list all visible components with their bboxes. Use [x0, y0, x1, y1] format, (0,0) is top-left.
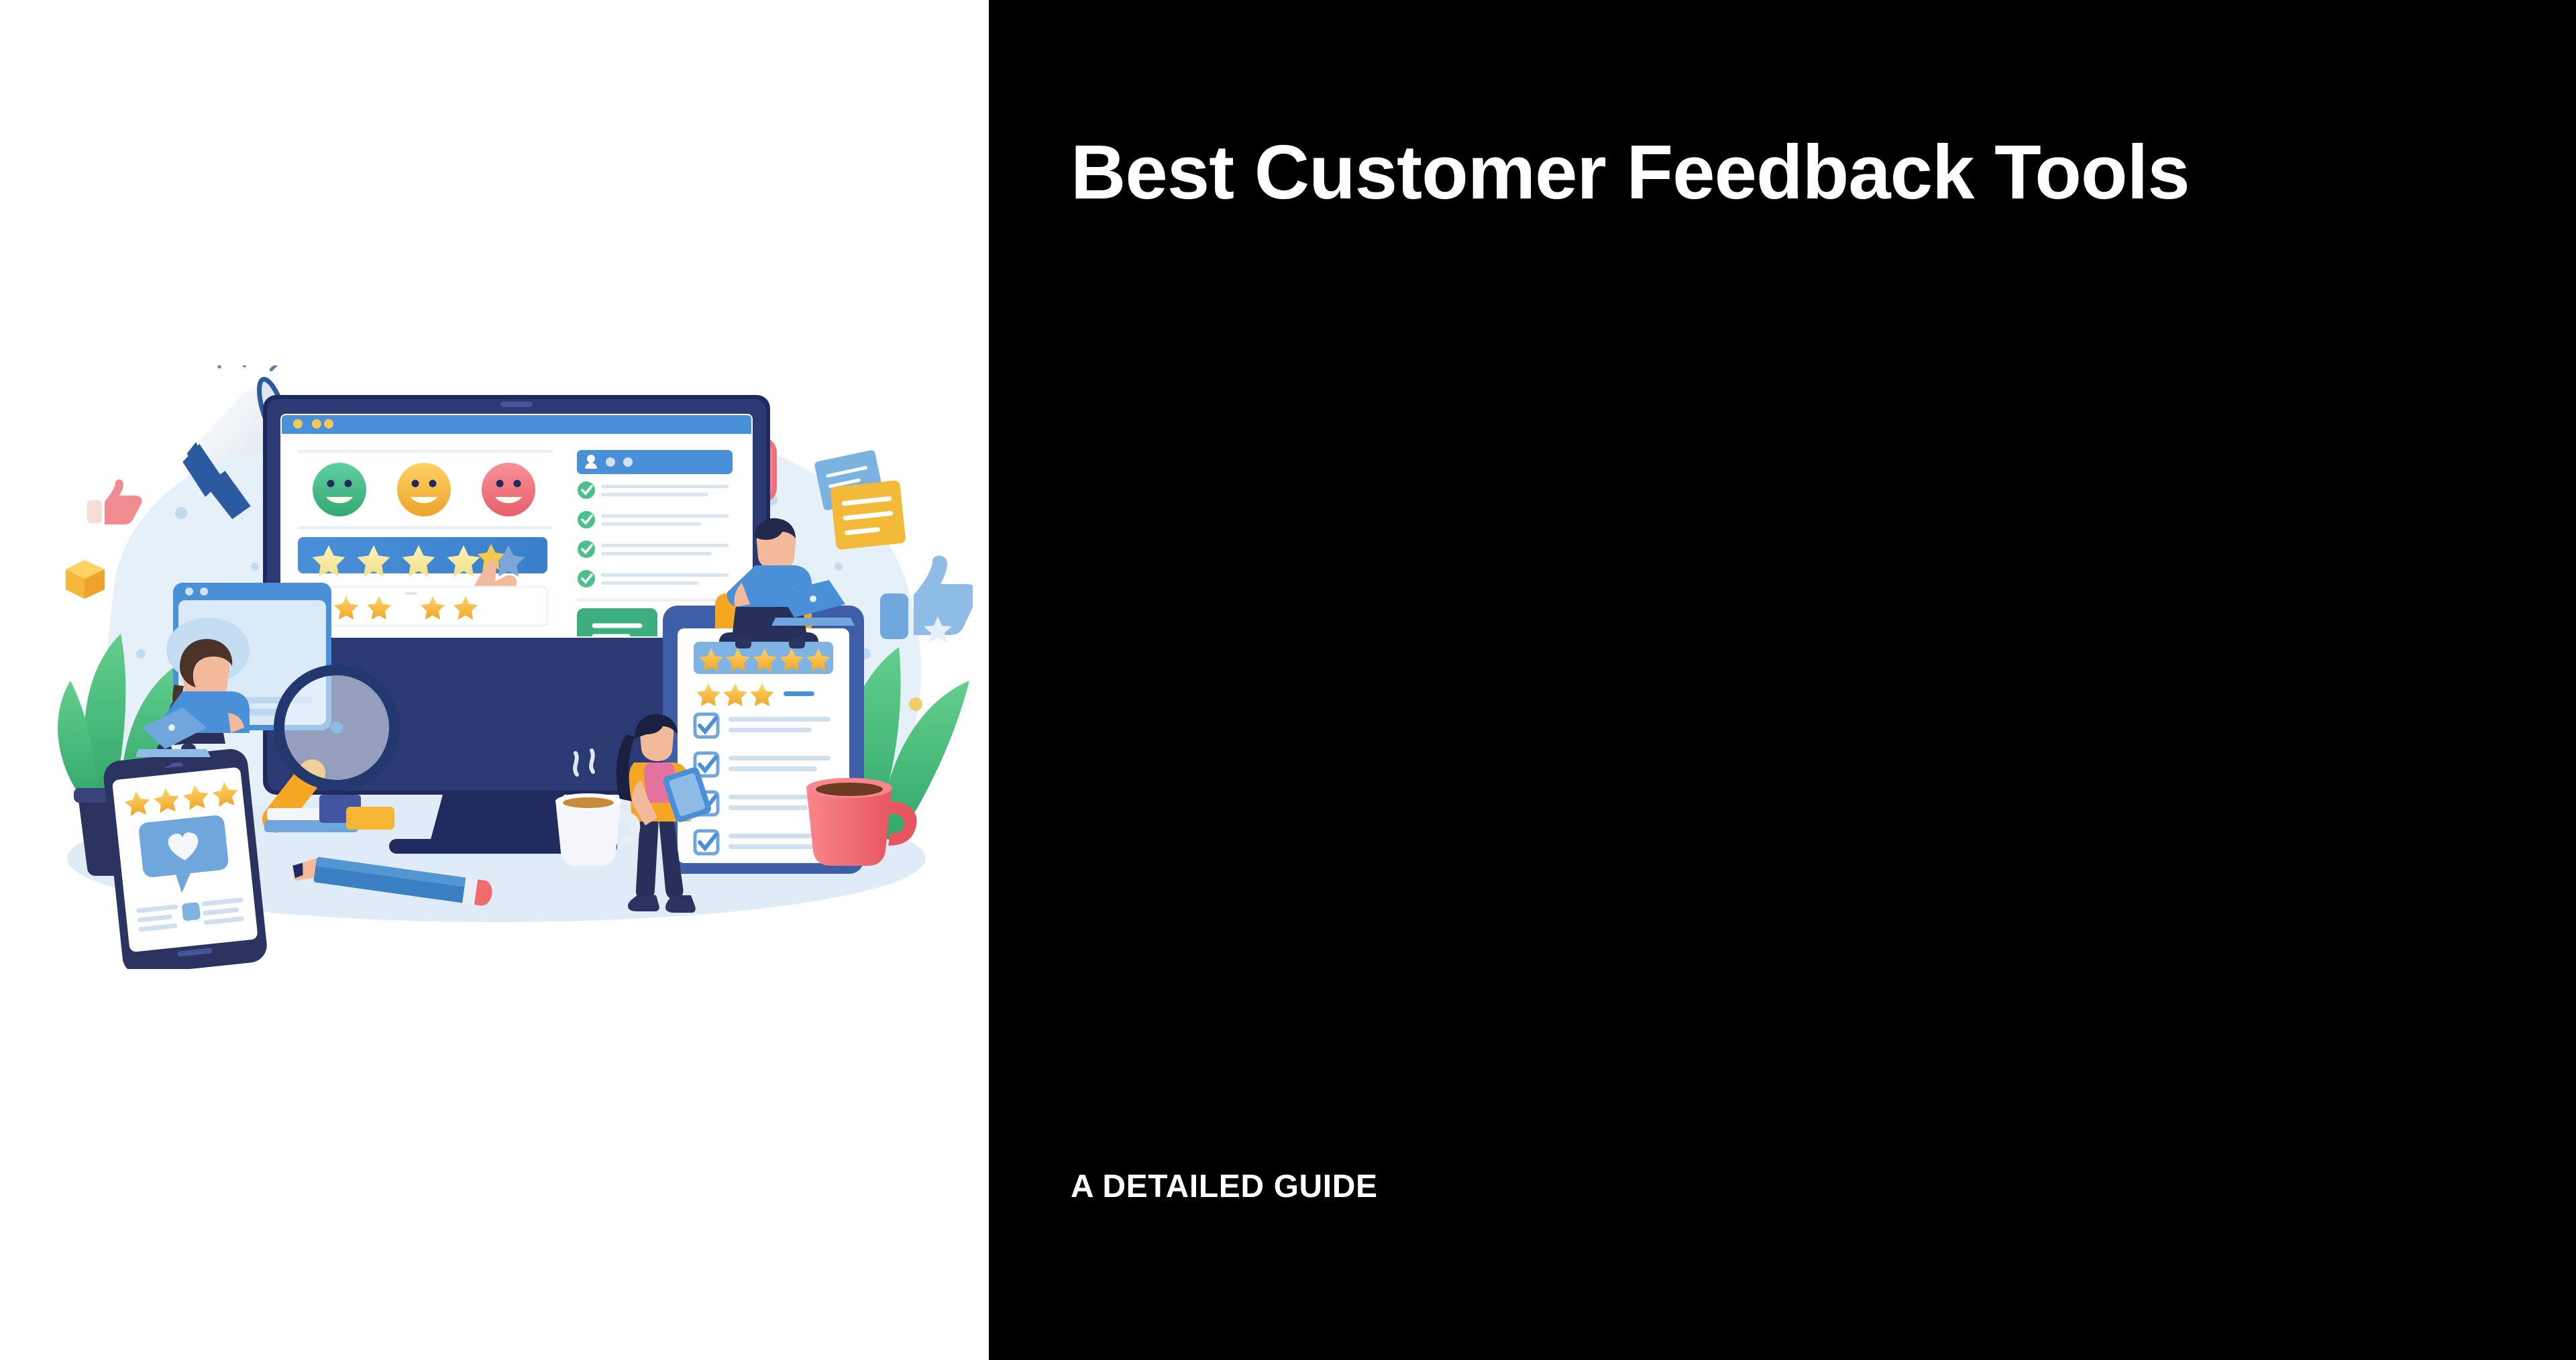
megaphone-rays — [212, 365, 294, 385]
emoji-happy-green — [313, 463, 366, 516]
customer-feedback-illustration — [13, 365, 973, 969]
emoji-neutral-yellow — [397, 463, 451, 516]
illustration-panel — [0, 0, 989, 1360]
profile-header-bar — [577, 450, 733, 474]
emoji-sad-red — [482, 463, 535, 516]
pink-thumb-icon — [87, 479, 142, 524]
page-subtitle: A DETAILED GUIDE — [1071, 1168, 1378, 1205]
page-title: Best Customer Feedback Tools — [1071, 131, 2479, 214]
slide-canvas: Best Customer Feedback Tools A DETAILED … — [0, 0, 2576, 1360]
star-rating-bar — [298, 537, 547, 577]
emoji-rating-row — [313, 463, 535, 516]
yellow-box-icon — [66, 560, 105, 599]
smartphone — [102, 747, 268, 969]
title-panel: Best Customer Feedback Tools A DETAILED … — [989, 0, 2576, 1360]
